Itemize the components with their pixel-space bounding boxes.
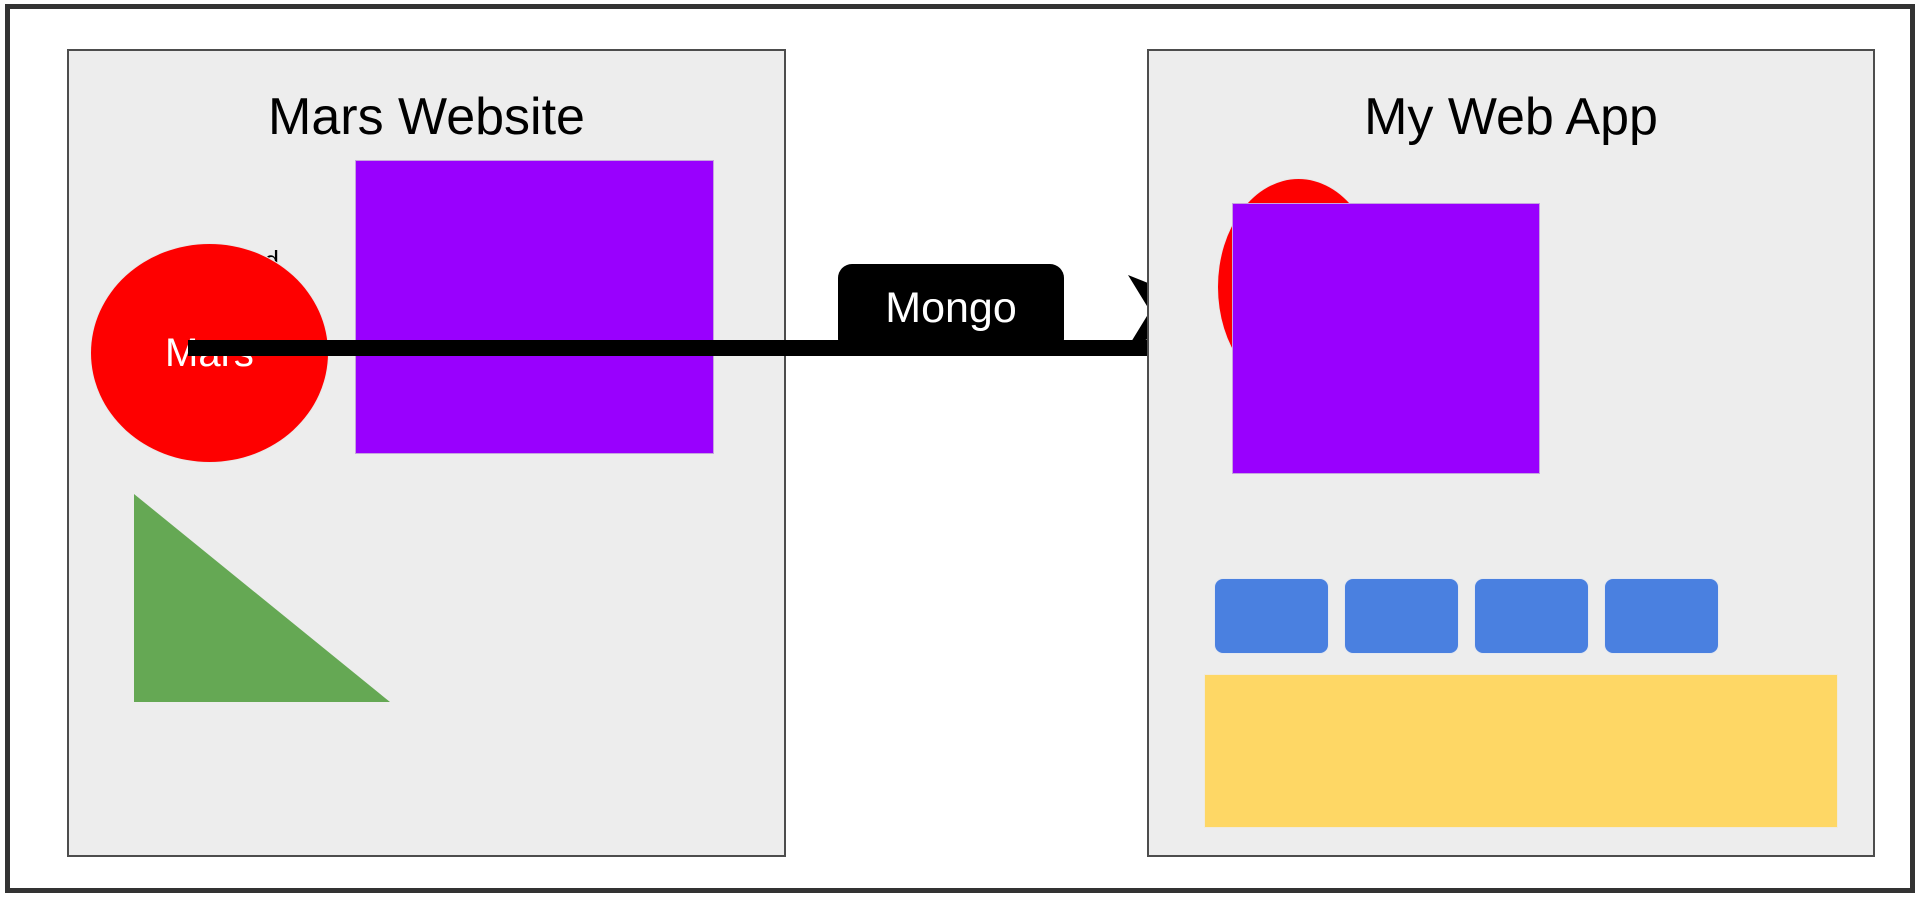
mongo-database-node[interactable]: Mongo <box>838 264 1064 353</box>
purple-content-block-right <box>1232 203 1540 474</box>
panel-right-title: My Web App <box>1149 89 1873 146</box>
panel-left-title: Mars Website <box>69 89 784 146</box>
purple-content-block-left <box>355 160 714 454</box>
green-triangle-shape <box>134 494 390 702</box>
diagram-outer-frame: Mars Website Featured Image Mars Mongo M… <box>5 4 1915 893</box>
blue-card-3[interactable] <box>1474 578 1589 654</box>
mongo-label: Mongo <box>885 284 1016 333</box>
blue-card-1[interactable] <box>1214 578 1329 654</box>
panel-my-web-app: My Web App Mars <box>1147 49 1875 857</box>
diagram-canvas: Mars Website Featured Image Mars Mongo M… <box>0 0 1920 897</box>
panel-mars-website: Mars Website Featured Image Mars <box>67 49 786 857</box>
blue-card-2[interactable] <box>1344 578 1459 654</box>
yellow-content-bar <box>1204 674 1838 828</box>
blue-card-4[interactable] <box>1604 578 1719 654</box>
